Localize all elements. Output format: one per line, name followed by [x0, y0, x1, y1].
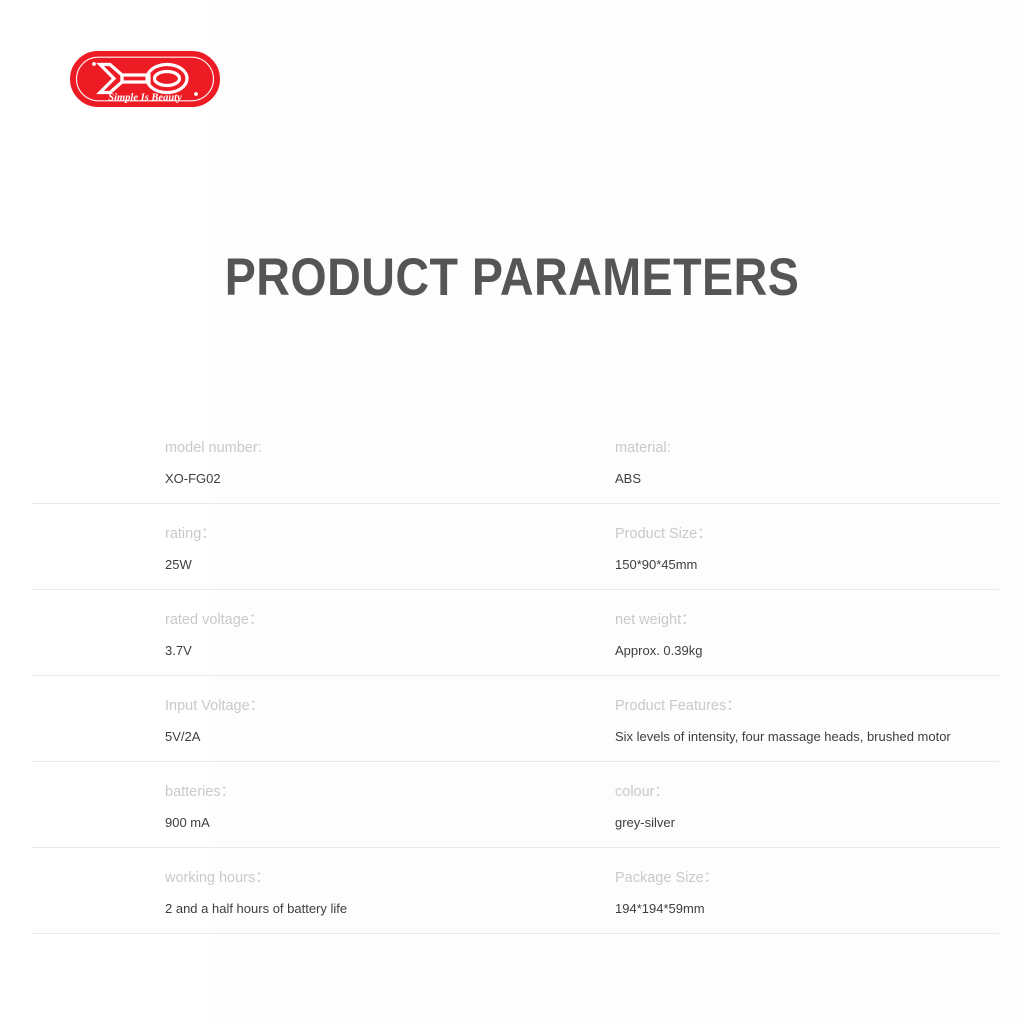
table-row: rating： 25W Product Size： 150*90*45mm	[32, 504, 999, 590]
spec-cell-left: working hours： 2 and a half hours of bat…	[32, 848, 482, 917]
spec-value: Six levels of intensity, four massage he…	[615, 728, 999, 745]
spec-value: 900 mA	[165, 814, 482, 831]
spec-cell-left: batteries： 900 mA	[32, 762, 482, 831]
spec-cell-left: rated voltage： 3.7V	[32, 590, 482, 659]
spec-value: 5V/2A	[165, 728, 482, 745]
spec-label: Product Features：	[615, 697, 999, 715]
spec-value: 194*194*59mm	[615, 900, 999, 917]
spec-cell-left: rating： 25W	[32, 504, 482, 573]
spec-label: batteries：	[165, 783, 482, 801]
spec-value: 3.7V	[165, 642, 482, 659]
spec-value: 2 and a half hours of battery life	[165, 900, 482, 917]
xo-logo: Simple Is Beauty	[70, 51, 220, 107]
spec-cell-left: model number: XO-FG02	[32, 418, 482, 487]
product-parameters-page: Simple Is Beauty PRODUCT PARAMETERS mode…	[0, 0, 1024, 1024]
table-row: Input Voltage： 5V/2A Product Features： S…	[32, 676, 999, 762]
spec-label: colour：	[615, 783, 999, 801]
spec-cell-right: Product Size： 150*90*45mm	[615, 504, 999, 573]
spec-cell-left: Input Voltage： 5V/2A	[32, 676, 482, 745]
spec-cell-right: net weight： Approx. 0.39kg	[615, 590, 999, 659]
spec-value: Approx. 0.39kg	[615, 642, 999, 659]
page-title: PRODUCT PARAMETERS	[61, 246, 962, 310]
spec-value: 25W	[165, 556, 482, 573]
table-row: rated voltage： 3.7V net weight： Approx. …	[32, 590, 999, 676]
table-row: working hours： 2 and a half hours of bat…	[32, 848, 999, 934]
spec-cell-right: Package Size： 194*194*59mm	[615, 848, 999, 917]
spec-label: working hours：	[165, 869, 482, 887]
spec-label: Product Size：	[615, 525, 999, 543]
spec-value: grey-silver	[615, 814, 999, 831]
table-row: model number: XO-FG02 material: ABS	[32, 418, 999, 504]
spec-label: material:	[615, 439, 999, 457]
spec-label: Input Voltage：	[165, 697, 482, 715]
spec-label: net weight：	[615, 611, 999, 629]
logo-tagline: Simple Is Beauty	[108, 93, 182, 104]
spec-label: rating：	[165, 525, 482, 543]
table-row: batteries： 900 mA colour： grey-silver	[32, 762, 999, 848]
spec-label: rated voltage：	[165, 611, 482, 629]
specification-table: model number: XO-FG02 material: ABS rati…	[32, 418, 999, 934]
spec-label: Package Size：	[615, 869, 999, 887]
spec-value: XO-FG02	[165, 470, 482, 487]
spec-cell-right: Product Features： Six levels of intensit…	[615, 676, 999, 745]
spec-value: ABS	[615, 470, 999, 487]
spec-label: model number:	[165, 439, 482, 457]
spec-value: 150*90*45mm	[615, 556, 999, 573]
spec-cell-right: colour： grey-silver	[615, 762, 999, 831]
spec-cell-right: material: ABS	[615, 418, 999, 487]
